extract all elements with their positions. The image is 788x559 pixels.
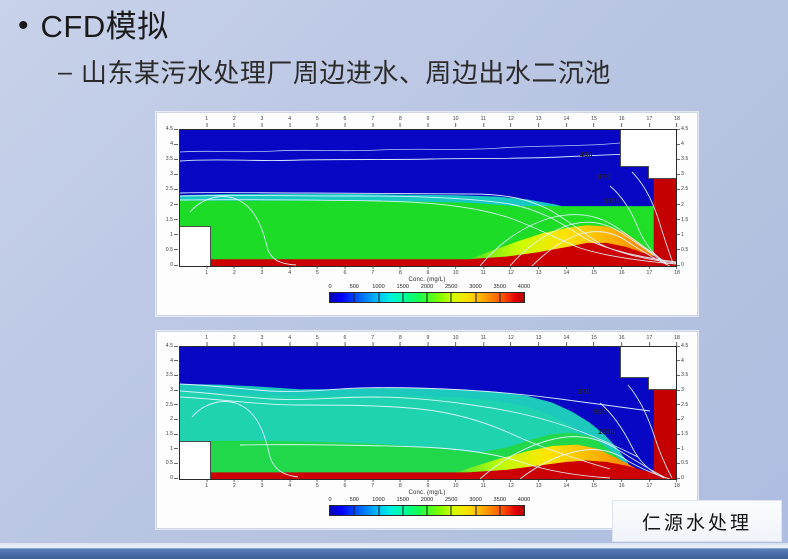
y-tick: 1	[170, 232, 178, 238]
colorbar-tick: 1500	[397, 497, 409, 503]
x-tick: 2	[233, 116, 236, 127]
x-tick: 15	[591, 335, 597, 346]
colorbar-tick: 1000	[372, 497, 384, 503]
colorbar-tick: 2500	[445, 284, 457, 290]
colorbar-title: Conc. (mg/L)	[157, 490, 697, 496]
y-tick: 4	[676, 141, 684, 147]
x-tick: 13	[536, 335, 542, 346]
colorbar-tickmark	[451, 292, 452, 303]
cfd-figure-top: 123456789101112131415161718 123456789101…	[156, 112, 698, 316]
x-tick: 8	[399, 116, 402, 127]
outlet-weir-block-1	[648, 166, 677, 179]
colorbar-top: Conc. (mg/L) 050010001500200025003000350…	[157, 277, 697, 303]
x-tick: 11	[481, 335, 486, 346]
y-tick: 0.5	[676, 247, 688, 253]
colorbar-tickmark	[499, 292, 500, 303]
colorbar-tickmark	[475, 292, 476, 303]
y-tick: 4.5	[676, 343, 688, 349]
slide-canvas: • CFD模拟 – 山东某污水处理厂周边进水、周边出水二沉池 123456789…	[0, 0, 788, 559]
y-tick: 1	[676, 446, 684, 452]
y-tick: 0.5	[676, 460, 688, 466]
y-axis-right-1: 00.511.522.533.544.5	[675, 129, 695, 265]
colorbar-strip	[329, 505, 525, 516]
plot-area-top: 123456789101112131415161718 123456789101…	[157, 113, 697, 315]
colorbar-title: Conc. (mg/L)	[157, 277, 697, 283]
effluent-launder-block-1	[620, 130, 677, 167]
x-tick: 3	[261, 116, 264, 127]
colorbar-tickmark	[378, 505, 379, 516]
colorbar-tick: 4000	[518, 497, 530, 503]
colorbar-tickmark	[499, 505, 500, 516]
colorbar-tick: 3000	[469, 497, 481, 503]
colorbar-tick: 2000	[421, 497, 433, 503]
y-tick: 3	[170, 387, 178, 393]
y-tick: 3	[676, 387, 684, 393]
y-tick: 1.5	[166, 431, 178, 437]
y-tick: 4.5	[166, 126, 178, 132]
x-tick: 11	[481, 116, 486, 127]
contour-label-870: 870	[598, 174, 611, 181]
colorbar-tick: 500	[350, 497, 359, 503]
y-tick: 1.5	[676, 217, 688, 223]
y-tick: 1.5	[166, 217, 178, 223]
colorbar-tick: 0	[328, 497, 331, 503]
y-axis-left-2: 00.511.522.533.544.5	[159, 346, 179, 478]
x-tick: 1	[205, 335, 208, 346]
y-tick: 2	[170, 202, 178, 208]
y-tick: 2	[170, 416, 178, 422]
colorbar-tick: 2000	[421, 284, 433, 290]
page-title: CFD模拟	[41, 6, 169, 48]
page-subtitle: 山东某污水处理厂周边进水、周边出水二沉池	[81, 54, 611, 92]
y-tick: 2.5	[676, 402, 688, 408]
y-tick: 4.5	[166, 343, 178, 349]
x-tick: 12	[508, 116, 514, 127]
outlet-weir-block-2	[648, 377, 677, 390]
colorbar-tickmark	[378, 292, 379, 303]
colorbar-tickmark	[354, 292, 355, 303]
x-tick: 7	[371, 335, 374, 346]
inlet-baffle-block-1	[180, 226, 211, 267]
x-tick: 17	[646, 116, 652, 127]
colorbar-tickmark	[402, 505, 403, 516]
x-tick: 5	[316, 335, 319, 346]
y-tick: 3.5	[166, 156, 178, 162]
x-tick: 7	[371, 116, 374, 127]
contour-label-370: 370	[578, 389, 591, 396]
x-tick: 17	[646, 335, 652, 346]
x-tick: 16	[619, 116, 625, 127]
y-tick: 3.5	[166, 372, 178, 378]
y-tick: 0.5	[166, 247, 178, 253]
x-tick: 6	[344, 335, 347, 346]
colorbar-tick: 1000	[372, 284, 384, 290]
colorbar-tickmark	[354, 505, 355, 516]
x-tick: 14	[563, 335, 569, 346]
x-tick: 8	[399, 335, 402, 346]
x-tick: 9	[427, 335, 430, 346]
colorbar-tick: 4000	[518, 284, 530, 290]
x-tick: 16	[619, 335, 625, 346]
colorbar-tick: 0	[328, 284, 331, 290]
x-tick: 4	[288, 116, 291, 127]
contour-label-900: 900	[594, 409, 607, 416]
x-tick: 15	[591, 116, 597, 127]
colorbar-tick: 500	[350, 284, 359, 290]
y-tick: 2	[676, 202, 684, 208]
colorbar-tickmark	[427, 292, 428, 303]
x-tick: 12	[508, 335, 514, 346]
effluent-launder-block-2	[620, 347, 677, 378]
y-axis-right-2: 00.511.522.533.544.5	[675, 346, 695, 478]
watermark-text: 仁源水处理	[642, 508, 752, 535]
colorbar-ticks: 05001000150020002500300035004000	[330, 497, 524, 505]
colorbar-tickmark	[451, 505, 452, 516]
title-line-2: – 山东某污水处理厂周边进水、周边出水二沉池	[58, 54, 611, 92]
y-tick: 4	[676, 358, 684, 364]
y-tick: 4.5	[676, 126, 688, 132]
footer-band	[0, 545, 788, 559]
contour-label-1300: 1300	[604, 198, 621, 205]
y-tick: 3	[170, 171, 178, 177]
bullet-icon: •	[18, 6, 29, 46]
y-tick: 3.5	[676, 156, 688, 162]
contour-label-430: 430	[580, 152, 593, 159]
colorbar-tick: 3500	[494, 284, 506, 290]
colorbar-tick: 3000	[469, 284, 481, 290]
y-tick: 0	[170, 262, 178, 268]
colorbar-tick: 3500	[494, 497, 506, 503]
y-tick: 1	[676, 232, 684, 238]
plot-area-bottom: 123456789101112131415161718 123456789101…	[157, 332, 697, 528]
x-tick: 6	[344, 116, 347, 127]
dash-bullet-icon: –	[58, 54, 72, 90]
colorbar-tickmark	[402, 292, 403, 303]
x-tick: 10	[453, 116, 459, 127]
watermark-logo: 仁源水处理	[612, 500, 782, 542]
concentration-field-bottom: 370 900 1350	[179, 346, 677, 480]
y-tick: 4	[170, 141, 178, 147]
x-tick: 9	[427, 116, 430, 127]
x-tick: 5	[316, 116, 319, 127]
title-line-1: • CFD模拟	[18, 6, 169, 48]
y-tick: 2.5	[676, 186, 688, 192]
y-tick: 4	[170, 358, 178, 364]
contour-label-1350: 1350	[598, 429, 615, 436]
y-tick: 0.5	[166, 460, 178, 466]
y-tick: 0	[676, 475, 684, 481]
y-tick: 0	[676, 262, 684, 268]
y-tick: 2.5	[166, 402, 178, 408]
colorbar-tick: 2500	[445, 497, 457, 503]
y-tick: 2	[676, 416, 684, 422]
concentration-field-top: 430 870 1300	[179, 129, 677, 267]
x-tick: 14	[563, 116, 569, 127]
y-tick: 1.5	[676, 431, 688, 437]
contour-lines-1	[180, 130, 676, 266]
y-tick: 3	[676, 171, 684, 177]
colorbar-strip	[329, 292, 525, 303]
x-tick: 3	[261, 335, 264, 346]
y-axis-left-1: 00.511.522.533.544.5	[159, 129, 179, 265]
x-tick: 10	[453, 335, 459, 346]
colorbar-tick: 1500	[397, 284, 409, 290]
y-tick: 0	[170, 475, 178, 481]
x-tick: 4	[288, 335, 291, 346]
y-tick: 2.5	[166, 186, 178, 192]
x-axis-top-1: 123456789101112131415161718	[179, 116, 677, 128]
colorbar-ticks: 05001000150020002500300035004000	[330, 284, 524, 292]
colorbar-tickmark	[475, 505, 476, 516]
x-tick: 1	[205, 116, 208, 127]
inlet-baffle-block-2	[180, 441, 211, 480]
y-tick: 3.5	[676, 372, 688, 378]
x-tick: 13	[536, 116, 542, 127]
x-tick: 2	[233, 335, 236, 346]
y-tick: 1	[170, 446, 178, 452]
colorbar-tickmark	[427, 505, 428, 516]
